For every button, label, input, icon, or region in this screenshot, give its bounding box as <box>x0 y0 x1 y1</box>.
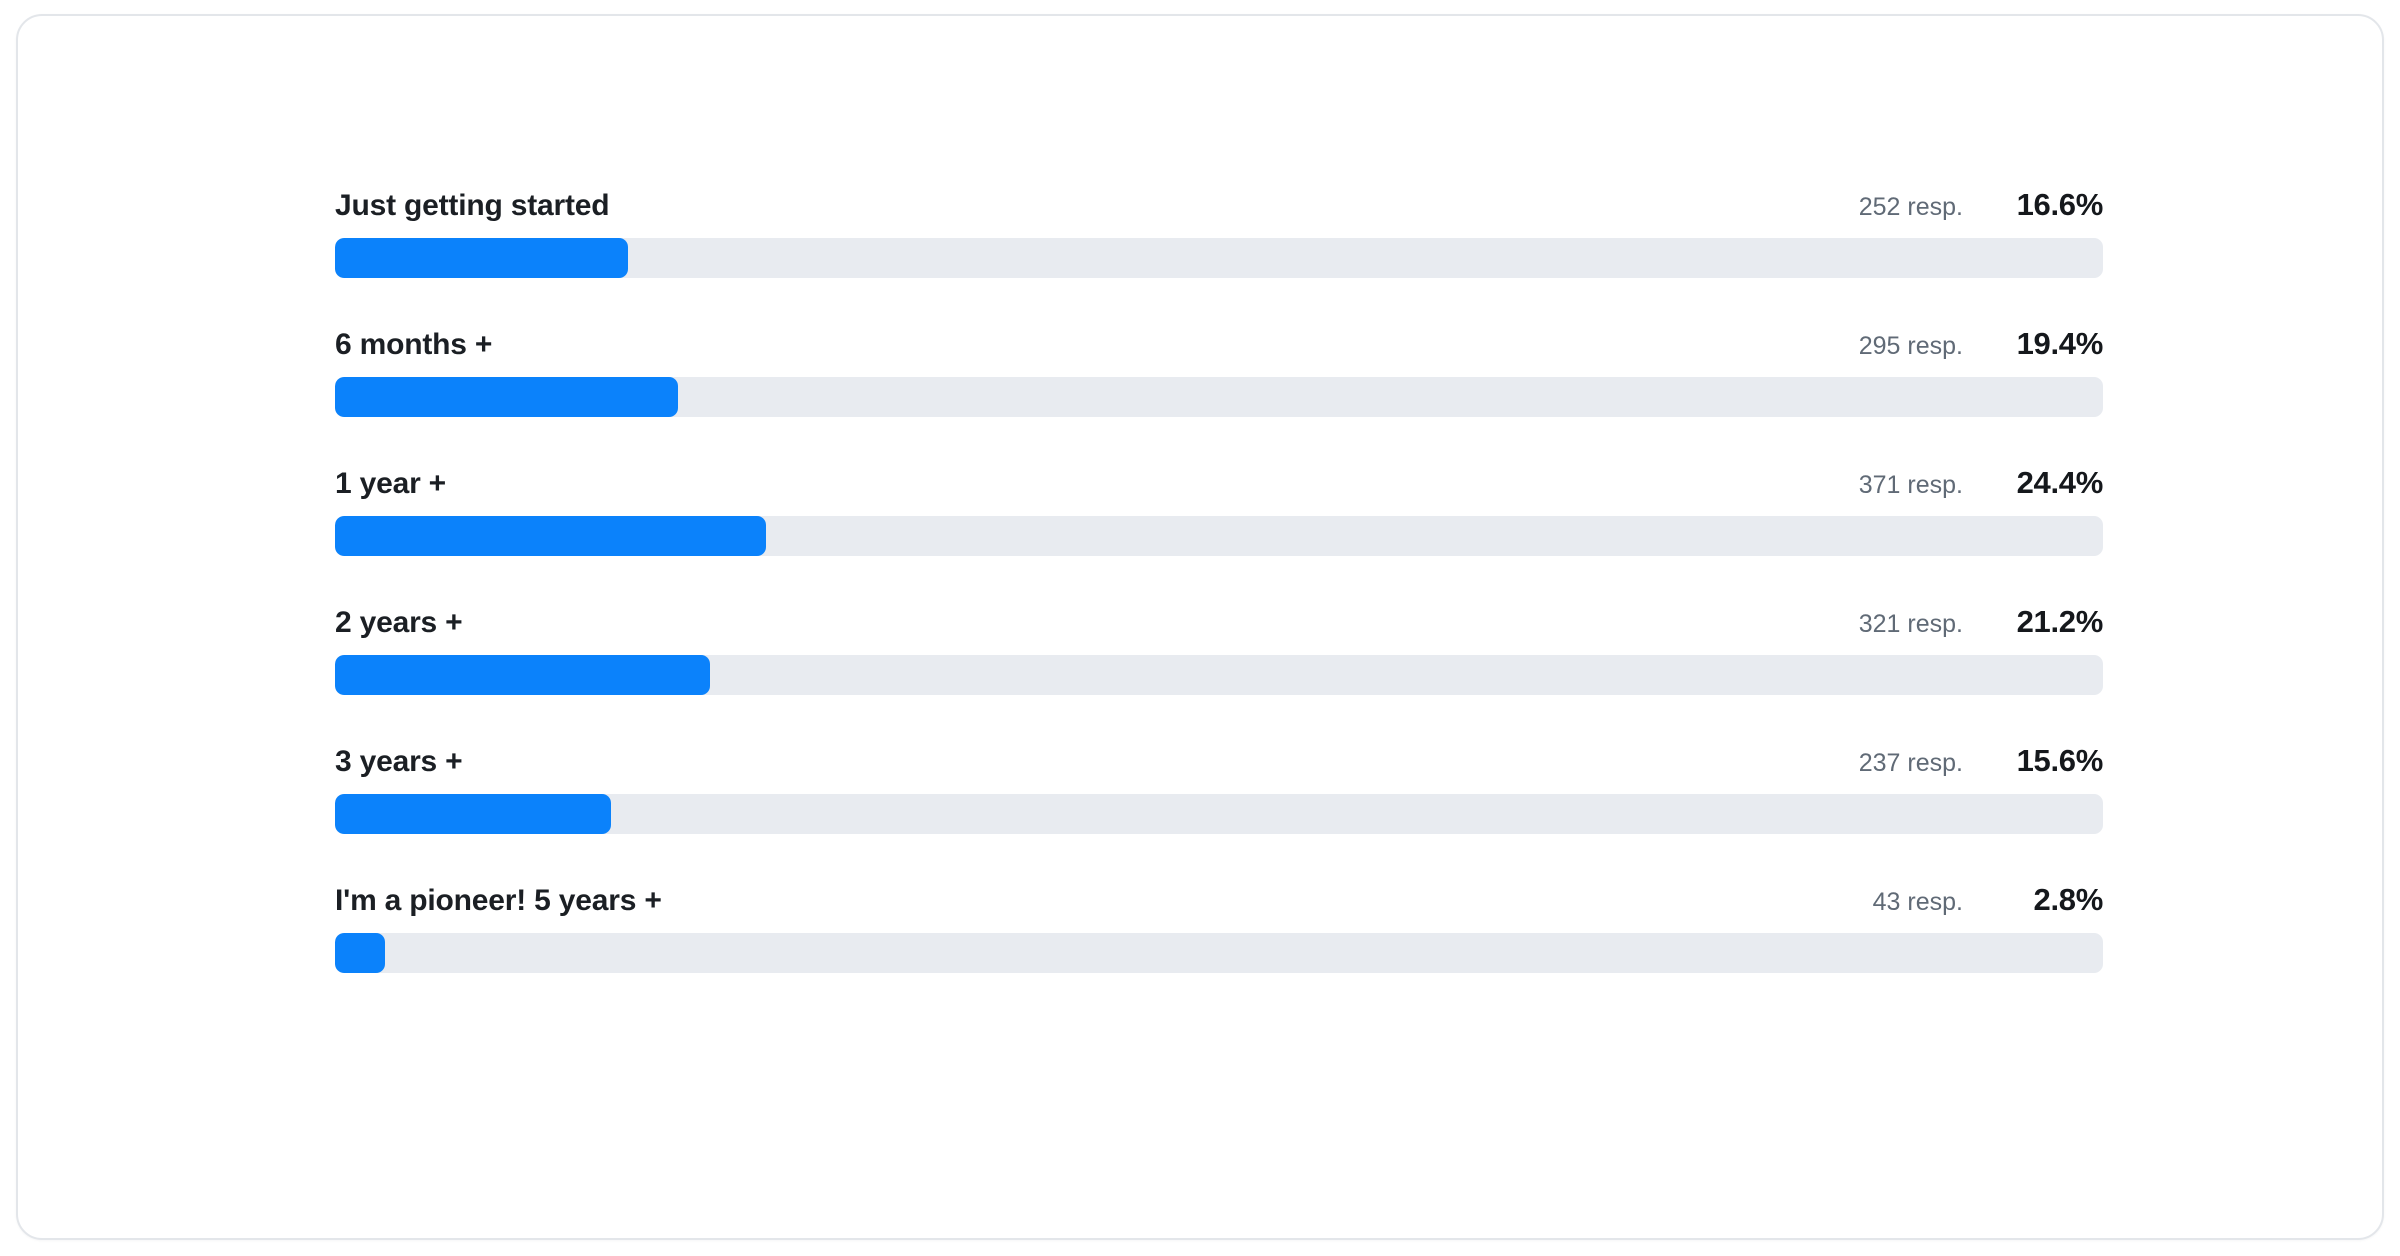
result-option-label: I'm a pioneer! 5 years + <box>335 880 662 922</box>
result-response-count: 321 resp. <box>1859 603 1963 645</box>
result-bar-track <box>335 933 2103 973</box>
result-row-header: I'm a pioneer! 5 years + 43 resp. 2.8% <box>335 879 2103 921</box>
result-option-label: Just getting started <box>335 185 609 227</box>
survey-results-list: Just getting started 252 resp. 16.6% 6 m… <box>335 184 2103 973</box>
result-percent: 15.6% <box>1985 740 2103 782</box>
result-row-header: 6 months + 295 resp. 19.4% <box>335 323 2103 365</box>
result-option-label: 2 years + <box>335 602 463 644</box>
result-row: 2 years + 321 resp. 21.2% <box>335 601 2103 695</box>
result-row: 6 months + 295 resp. 19.4% <box>335 323 2103 417</box>
result-row: I'm a pioneer! 5 years + 43 resp. 2.8% <box>335 879 2103 973</box>
result-response-count: 252 resp. <box>1859 186 1963 228</box>
result-bar-track <box>335 238 2103 278</box>
result-bar-fill <box>335 655 710 695</box>
result-bar-fill <box>335 377 678 417</box>
result-row-header: 3 years + 237 resp. 15.6% <box>335 740 2103 782</box>
result-row-header: 2 years + 321 resp. 21.2% <box>335 601 2103 643</box>
result-bar-track <box>335 794 2103 834</box>
result-metrics: 295 resp. 19.4% <box>1859 323 2103 367</box>
screenshot-viewport: Just getting started 252 resp. 16.6% 6 m… <box>0 0 2400 1256</box>
result-row-header: 1 year + 371 resp. 24.4% <box>335 462 2103 504</box>
result-option-label: 1 year + <box>335 463 446 505</box>
result-percent: 16.6% <box>1985 184 2103 226</box>
result-metrics: 43 resp. 2.8% <box>1873 879 2103 923</box>
result-bar-fill <box>335 238 628 278</box>
result-row: 1 year + 371 resp. 24.4% <box>335 462 2103 556</box>
result-response-count: 295 resp. <box>1859 325 1963 367</box>
result-percent: 2.8% <box>1985 879 2103 921</box>
result-response-count: 43 resp. <box>1873 881 1963 923</box>
result-response-count: 237 resp. <box>1859 742 1963 784</box>
result-bar-fill <box>335 516 766 556</box>
survey-results-card: Just getting started 252 resp. 16.6% 6 m… <box>16 14 2384 1240</box>
result-option-label: 3 years + <box>335 741 463 783</box>
result-bar-fill <box>335 933 385 973</box>
result-row-header: Just getting started 252 resp. 16.6% <box>335 184 2103 226</box>
result-bar-track <box>335 516 2103 556</box>
result-bar-track <box>335 655 2103 695</box>
result-percent: 21.2% <box>1985 601 2103 643</box>
result-metrics: 371 resp. 24.4% <box>1859 462 2103 506</box>
result-percent: 19.4% <box>1985 323 2103 365</box>
result-bar-track <box>335 377 2103 417</box>
result-metrics: 237 resp. 15.6% <box>1859 740 2103 784</box>
result-row: Just getting started 252 resp. 16.6% <box>335 184 2103 278</box>
result-percent: 24.4% <box>1985 462 2103 504</box>
result-response-count: 371 resp. <box>1859 464 1963 506</box>
result-metrics: 321 resp. 21.2% <box>1859 601 2103 645</box>
result-metrics: 252 resp. 16.6% <box>1859 184 2103 228</box>
result-option-label: 6 months + <box>335 324 492 366</box>
result-bar-fill <box>335 794 611 834</box>
result-row: 3 years + 237 resp. 15.6% <box>335 740 2103 834</box>
